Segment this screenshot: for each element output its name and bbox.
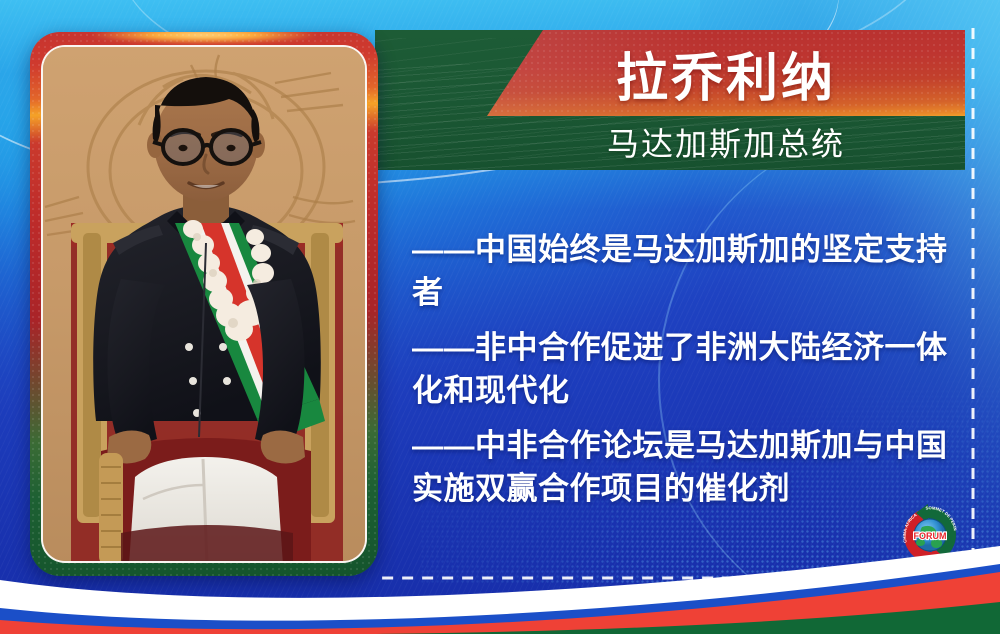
portrait-inner-border <box>41 45 367 563</box>
portrait-frame <box>30 32 378 576</box>
quote-line-2: ——非中合作促进了非洲大陆经济一体化和现代化 <box>412 326 952 413</box>
portrait-photo <box>43 47 365 561</box>
quote-line-3: ——中非合作论坛是马达加斯加与中国实施双赢合作项目的催化剂 <box>412 424 952 511</box>
page-title: 拉乔利纳 <box>487 34 965 112</box>
quote-line-1: ——中国始终是马达加斯加的坚定支持者 <box>412 228 952 315</box>
page-subtitle: 马达加斯加总统 <box>487 116 965 168</box>
quote-card: 拉乔利纳 马达加斯加总统 <box>0 0 1000 634</box>
portrait-illustration <box>43 47 365 561</box>
quote-list: ——中国始终是马达加斯加的坚定支持者 ——非中合作促进了非洲大陆经济一体化和现代… <box>412 228 952 510</box>
bottom-ribbons <box>0 524 1000 634</box>
